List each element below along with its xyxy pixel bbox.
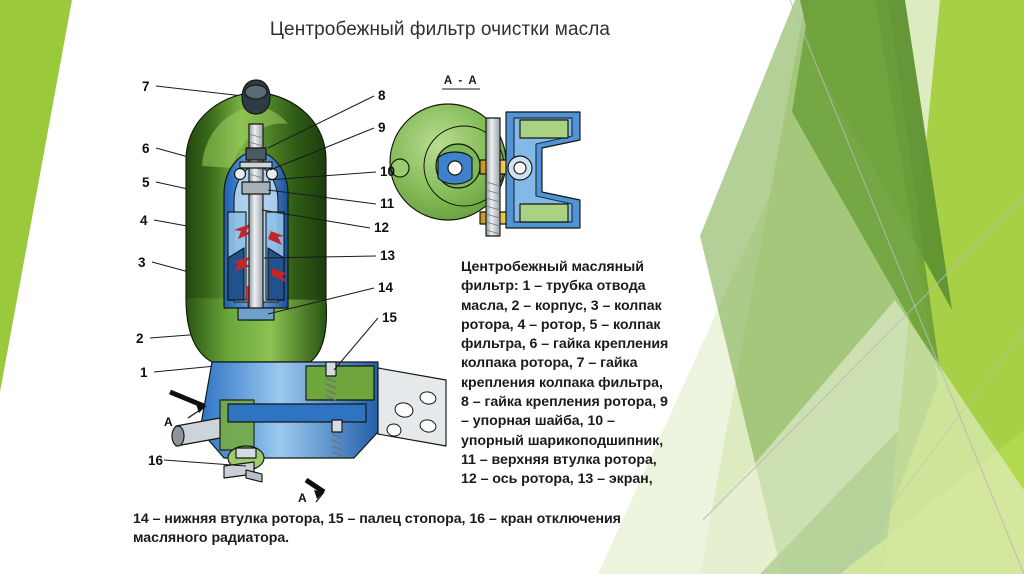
- callout-14: 14: [378, 280, 394, 295]
- body-channel: [228, 404, 366, 422]
- deco-lower-pale-sweep: [660, 300, 1024, 574]
- deco-dark-wedge: [792, 0, 940, 372]
- callout-7: 7: [142, 79, 150, 94]
- deco-v-leaf-left: [700, 0, 938, 574]
- callout-2: 2: [136, 331, 144, 346]
- callout-9: 9: [378, 120, 386, 135]
- callout-10: 10: [380, 164, 395, 179]
- rotor-nut: [246, 148, 266, 160]
- thrust-washer: [240, 162, 272, 168]
- callout-1: 1: [140, 365, 148, 380]
- upper-rotor-bush: [242, 182, 270, 194]
- callout-4: 4: [140, 213, 148, 228]
- deco-hairline-2: [703, 196, 1024, 520]
- slide-canvas: Центробежный фильтр очистки масла: [0, 0, 1024, 574]
- callout-13: 13: [380, 248, 396, 263]
- svg-text:А - А: А - А: [444, 75, 478, 87]
- callout-8: 8: [378, 88, 386, 103]
- callout-3: 3: [138, 255, 146, 270]
- body-green-face-upper: [306, 366, 374, 400]
- callout-6: 6: [142, 141, 150, 156]
- filter-cap-nut-top: [245, 85, 267, 99]
- deco-bottom-bright-triangle: [840, 430, 1024, 574]
- deco-right-pale-band: [700, 0, 1024, 574]
- deco-v-leaf-right: [880, 0, 1024, 574]
- slide-title: Центробежный фильтр очистки масла: [120, 17, 760, 43]
- section-view-a-a: [390, 104, 580, 236]
- figure-caption-bottom: 14 – нижняя втулка ротора, 15 – палец ст…: [133, 510, 693, 549]
- deco-hairline-3: [840, 330, 1024, 574]
- deco-hairline-1: [790, 0, 1024, 574]
- deco-dark-blade-upper: [800, 0, 952, 310]
- deco-right-mid-triangle: [760, 300, 1024, 574]
- section-marker-a-bottom: А: [298, 491, 307, 504]
- callout-11: 11: [380, 196, 395, 211]
- figure-caption-right: Центробежный масляный фильтр: 1 – трубка…: [461, 258, 673, 490]
- deco-right-bright-column: [884, 0, 1024, 574]
- callout-16: 16: [148, 453, 164, 468]
- section-label-a-a: А - А: [442, 75, 480, 89]
- callout-15: 15: [382, 310, 398, 325]
- deco-left-wedge: [0, 0, 72, 392]
- section-cut-marker-a2: [306, 480, 324, 502]
- callout-12: 12: [374, 220, 389, 235]
- callout-5: 5: [142, 175, 150, 190]
- section-cut-marker-a: [170, 392, 206, 418]
- section-marker-a-left: А: [164, 415, 173, 429]
